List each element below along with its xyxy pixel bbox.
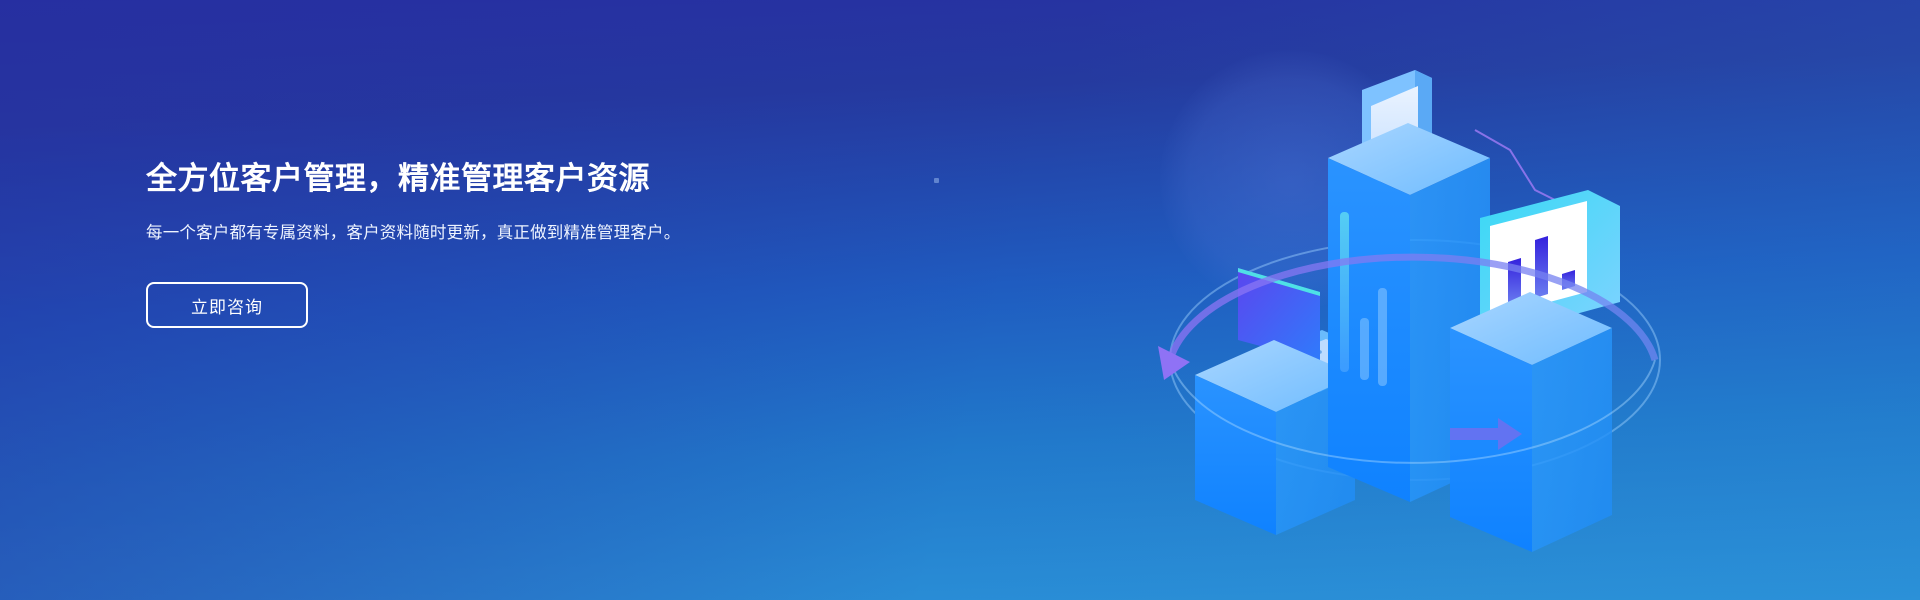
- hero-subtitle: 每一个客户都有专属资料，客户资料随时更新，真正做到精准管理客户。: [146, 221, 731, 247]
- hero-banner: 全方位客户管理，精准管理客户资源 每一个客户都有专属资料，客户资料随时更新，真正…: [0, 0, 1920, 600]
- right-pillar-side: [1532, 328, 1612, 552]
- chart-bar-2: [1535, 236, 1548, 298]
- consult-now-button[interactable]: 立即咨询: [146, 282, 308, 328]
- hero-copy-block: 全方位客户管理，精准管理客户资源 每一个客户都有专属资料，客户资料随时更新，真正…: [146, 160, 786, 328]
- decorative-speck: [934, 178, 939, 183]
- isometric-illustration-svg: 三个蓝色立体柱体，上方分别放置笔记本电脑、平板和显示柱状图的显示器，外围有紫色环…: [1150, 30, 1690, 590]
- hero-illustration: 三个蓝色立体柱体，上方分别放置笔记本电脑、平板和显示柱状图的显示器，外围有紫色环…: [1150, 30, 1690, 590]
- page-title: 全方位客户管理，精准管理客户资源: [146, 160, 786, 199]
